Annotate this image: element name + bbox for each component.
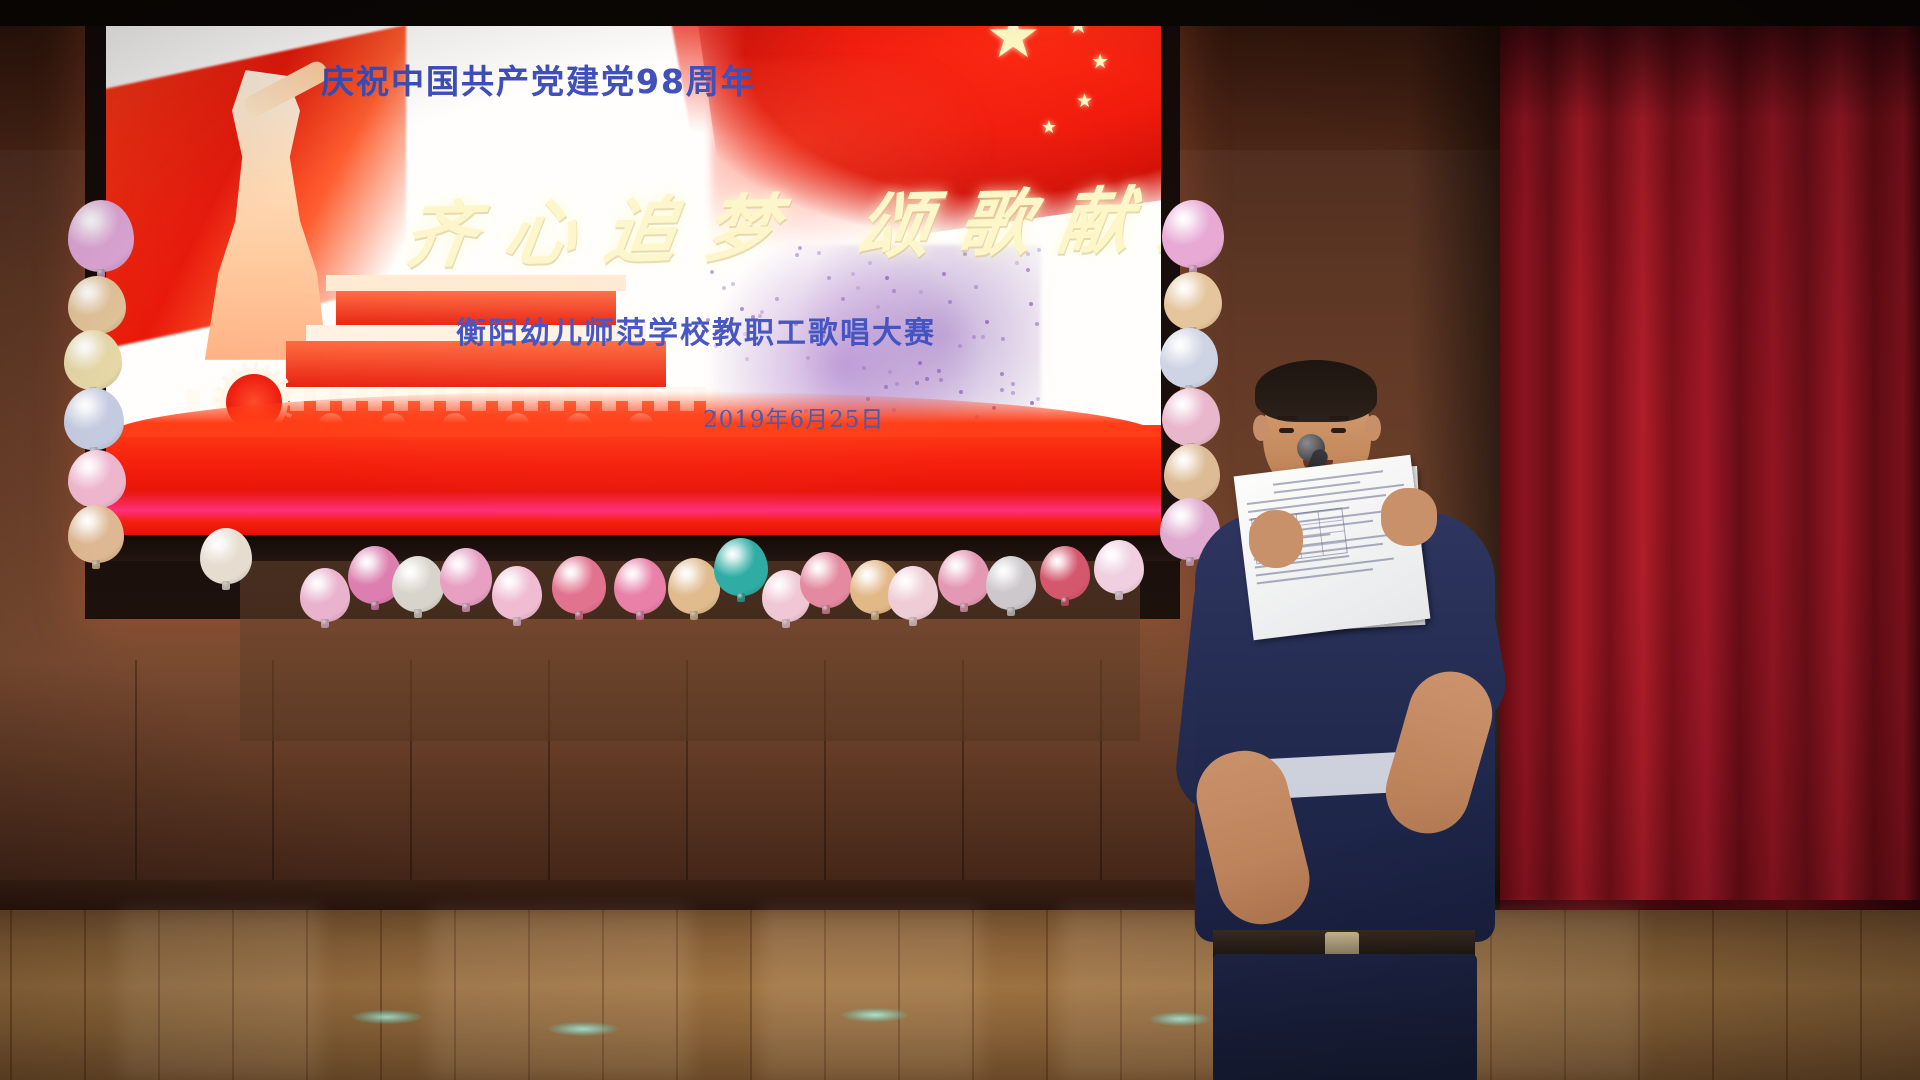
wall-seam-0 [135,660,137,910]
firework-spark-69 [1011,382,1015,386]
balloon-bottom-0 [200,528,252,584]
presentation-slide: ★ ★ ★ ★ ★ 庆祝中国共产党建党98周年 齐心追梦 颂歌献党 衡阳幼儿师范… [106,0,1161,535]
floor-uplight-2 [842,1008,908,1022]
slide-red-bottom-band [106,425,1161,535]
balloon-highlight [997,565,1012,578]
balloon-highlight [679,567,695,580]
slide-subtitle: 衡阳幼儿师范学校教职工歌唱大赛 [456,308,936,352]
presenter-left-brow [1277,416,1297,420]
presenter-right-eye [1331,428,1346,433]
balloon-highlight [1173,338,1190,352]
firework-spark-61 [915,381,919,385]
balloon-bottom-16 [1040,546,1090,600]
slide-calligraphy-title: 齐心追梦 颂歌献党 [397,159,1161,282]
balloon-highlight [949,559,965,572]
balloon-highlight [81,285,98,299]
firework-spark-34 [937,369,941,373]
presenter-hair [1255,360,1377,422]
balloon-highlight [403,565,419,578]
balloon-highlight [625,567,641,580]
firework-spark-75 [862,366,866,370]
firework-spark-17 [885,276,889,280]
floor-plank-14 [1046,910,1048,1080]
presenter-left-eye [1279,428,1294,433]
firework-spark-12 [745,357,749,361]
balloon-bottom-7 [614,558,666,614]
balloon-bottom-6 [552,556,606,614]
firework-spark-44 [806,356,810,360]
presenter-left-hand [1249,510,1303,568]
firework-spark-1 [888,370,892,374]
firework-spark-58 [1000,372,1004,376]
balloon-left-5 [68,505,124,563]
balloon-highlight [451,557,467,571]
floor-uplight-0 [352,1010,422,1024]
paper-line-0 [1273,470,1383,485]
firework-spark-47 [942,272,946,276]
firework-spark-63 [958,344,962,348]
balloon-highlight [899,575,914,588]
presenter-right-hand [1381,488,1437,546]
balloon-bottom-14 [938,550,990,606]
balloon-highlight [1051,555,1066,568]
paper-line-12 [1257,568,1373,584]
balloon-highlight [1176,211,1195,227]
slide-headline: 庆祝中国共产党建党98周年 [321,55,756,103]
floor-plank-10 [750,910,752,1080]
balloon-highlight [861,569,876,582]
firework-spark-0 [1029,302,1033,306]
balloon-bottom-8 [668,558,720,614]
firework-spark-74 [895,382,899,386]
balloon-highlight [811,561,827,574]
floor-reflection-0 [120,910,320,1080]
firework-spark-5 [1036,397,1040,401]
balloon-bottom-17 [1094,540,1144,594]
firework-spark-30 [892,289,896,293]
flag-star-4: ★ [1041,118,1057,136]
balloon-bottom-13 [888,566,938,620]
firework-spark-7 [974,285,978,289]
floor-reflection-1 [430,910,690,1080]
firework-spark-21 [948,300,952,304]
stage-floor [0,910,1920,1080]
slide-date: 2019年6月25日 [703,400,884,434]
balloon-bottom-9 [714,538,768,596]
presenter-right-ear [1365,415,1381,441]
floor-plank-25 [1860,910,1862,1080]
balloon-highlight [211,537,227,550]
stage-scene: ★ ★ ★ ★ ★ 庆祝中国共产党建党98周年 齐心追梦 颂歌献党 衡阳幼儿师范… [0,0,1920,1080]
balloon-highlight [773,578,787,590]
balloon-left-2 [64,330,122,390]
presenter-trousers [1213,954,1477,1080]
firework-spark-40 [925,377,929,381]
firework-spark-52 [775,297,779,301]
firework-spark-57 [827,276,831,280]
balloon-highlight [77,398,95,413]
firework-spark-65 [841,297,845,301]
firework-spark-86 [884,385,888,389]
firework-spark-10 [939,378,943,382]
balloon-highlight [1177,281,1194,295]
presenter [1185,360,1505,1080]
floor-reflection-2 [760,910,980,1080]
floor-plank-0 [10,910,12,1080]
floor-plank-5 [380,910,382,1080]
balloon-highlight [360,555,376,569]
floor-uplight-1 [548,1022,618,1036]
firework-spark-15 [1030,401,1034,405]
flag-star-2: ★ [1091,52,1109,72]
floor-plank-23 [1712,910,1714,1080]
balloon-highlight [80,514,97,528]
firework-spark-2 [981,335,985,339]
firework-spark-60 [959,390,963,394]
presenter-right-brow [1329,416,1349,420]
balloon-bottom-15 [986,556,1036,610]
balloon-left-3 [64,388,124,450]
firework-spark-49 [1035,322,1039,326]
balloon-highlight [1105,549,1120,562]
balloon-highlight [564,565,580,579]
balloon-right-0 [1162,200,1224,268]
balloon-highlight [81,459,98,473]
presenter-belt-buckle [1325,932,1359,956]
balloon-highlight [503,575,518,588]
balloon-bottom-4 [440,548,492,606]
balloon-highlight [311,577,326,590]
firework-spark-62 [1000,388,1004,392]
flag-star-3: ★ [1076,92,1093,111]
balloon-highlight [726,547,742,561]
firework-spark-82 [972,335,976,339]
firework-spark-41 [856,286,860,290]
balloon-bottom-11 [800,552,852,608]
balloon-bottom-1 [300,568,350,622]
firework-spark-56 [722,286,726,290]
floor-plank-24 [1786,910,1788,1080]
firework-spark-81 [731,282,735,286]
firework-spark-18 [985,320,989,324]
stage-curtain [1500,0,1920,920]
floor-plank-1 [84,910,86,1080]
balloon-left-0 [68,200,134,272]
balloon-left-1 [68,276,126,334]
firework-spark-84 [851,272,855,276]
firework-spark-31 [1001,337,1005,341]
firework-spark-64 [918,361,922,365]
led-screen[interactable]: ★ ★ ★ ★ ★ 庆祝中国共产党建党98周年 齐心追梦 颂歌献党 衡阳幼儿师范… [106,0,1161,535]
presenter-left-ear [1253,415,1269,441]
firework-spark-27 [919,290,923,294]
balloon-highlight [83,212,103,229]
top-black-band [0,0,1920,26]
balloon-left-4 [68,450,126,508]
balloon-bottom-5 [492,566,542,620]
firework-spark-39 [1011,391,1015,395]
balloon-right-1 [1164,272,1222,330]
balloon-bottom-3 [392,556,444,612]
balloon-highlight [77,340,94,354]
